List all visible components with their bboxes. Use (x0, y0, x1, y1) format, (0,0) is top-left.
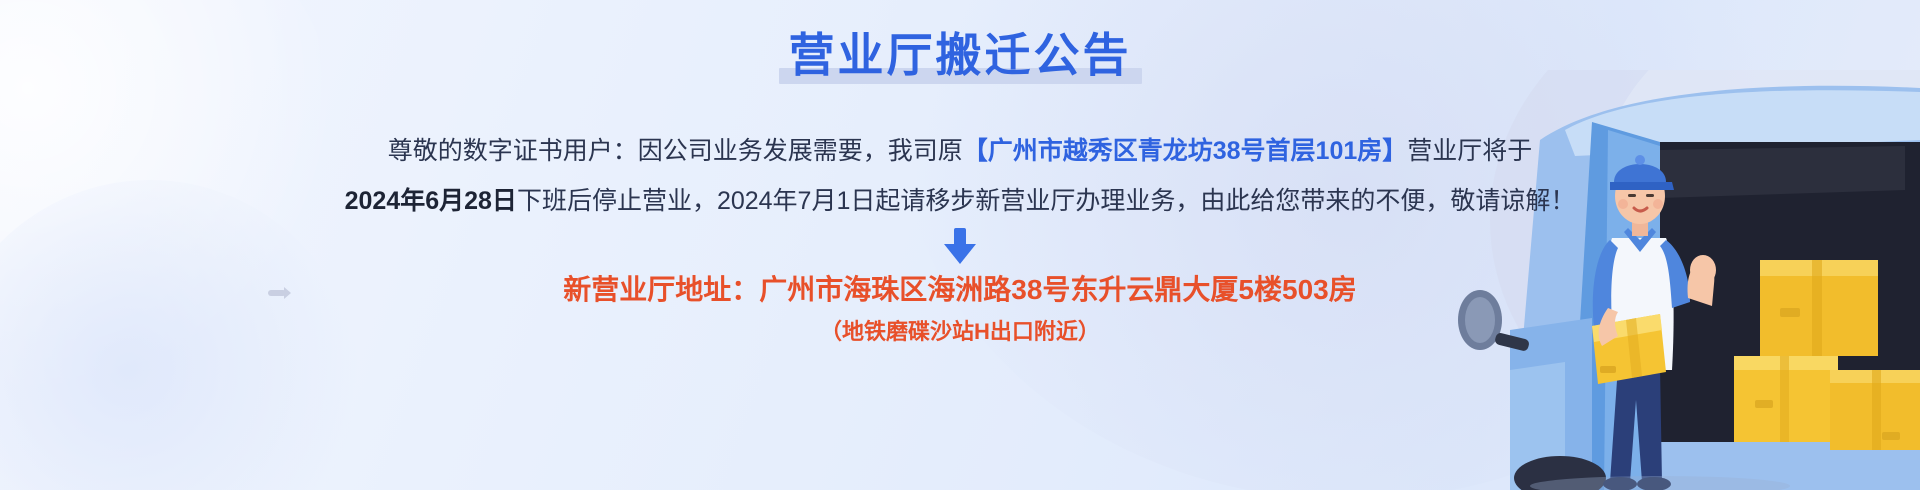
title-text: 营业厅搬迁公告 (789, 29, 1132, 81)
new-address-block: 新营业厅地址：广州市海珠区海洲路38号东升云鼎大厦5楼503房 （地铁磨碟沙站H… (0, 268, 1920, 352)
relocation-announcement-banner: 营业厅搬迁公告 尊敬的数字证书用户：因公司业务发展需要，我司原【广州市越秀区青龙… (0, 0, 1920, 490)
line1-lead-text: 尊敬的数字证书用户：因公司业务发展需要，我司原 (388, 137, 963, 165)
paragraph-line-2: 2024年6月28日下班后停止营业，2024年7月1日起请移步新营业厅办理业务，… (0, 176, 1920, 226)
old-address-highlight: 【广州市越秀区青龙坊38号首层101房】 (963, 137, 1408, 165)
arrow-head (944, 244, 976, 264)
arrow-row (0, 228, 1920, 269)
title-container: 营业厅搬迁公告 (0, 26, 1920, 86)
new-address-sub: （地铁磨碟沙站H出口附近） (0, 312, 1920, 352)
line2-tail-text: 下班后停止营业，2024年7月1日起请移步新营业厅办理业务，由此给您带来的不便，… (517, 187, 1575, 215)
paragraph-line-1: 尊敬的数字证书用户：因公司业务发展需要，我司原【广州市越秀区青龙坊38号首层10… (0, 126, 1920, 176)
line1-tail-text: 营业厅将于 (1407, 137, 1532, 165)
arrow-down-icon (943, 228, 977, 264)
page-title: 营业厅搬迁公告 (775, 26, 1146, 86)
small-pointer-icon (268, 290, 286, 296)
announcement-body: 尊敬的数字证书用户：因公司业务发展需要，我司原【广州市越秀区青龙坊38号首层10… (0, 126, 1920, 226)
closing-date: 2024年6月28日 (345, 187, 517, 215)
